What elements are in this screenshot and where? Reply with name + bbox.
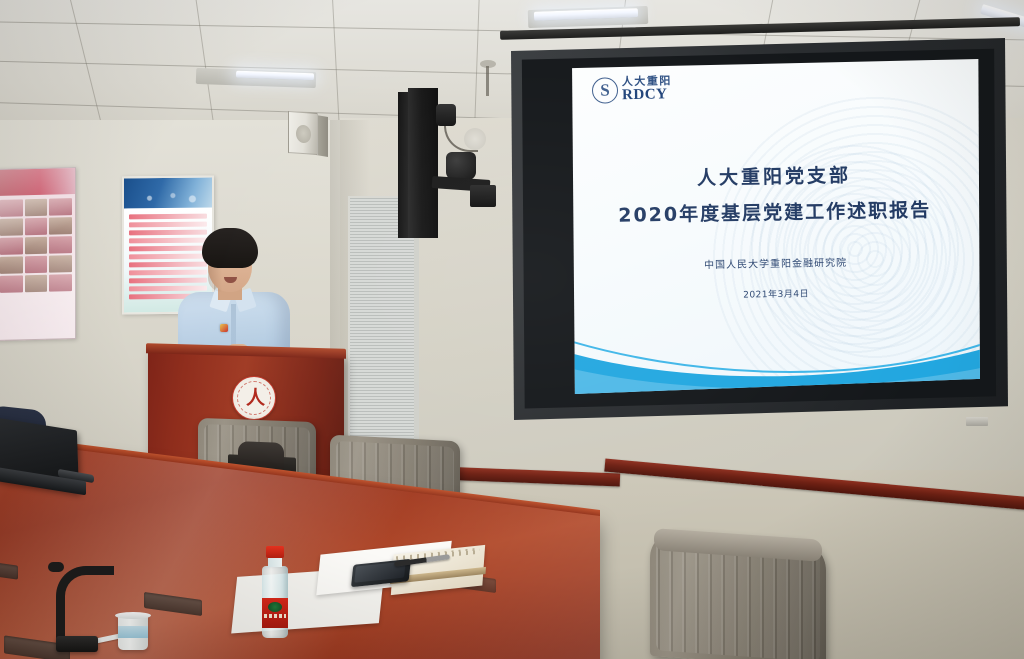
slide-organization: 中国人民大学重阳金融研究院	[570, 251, 980, 273]
microphone-head	[48, 562, 64, 572]
rdcy-logo-mark: S	[592, 77, 618, 103]
poster-photo-board	[0, 167, 76, 341]
projection-screen: S 人大重阳 RDCY 人大重阳党支部 2020年度基层党建工作述职报告 中国人…	[508, 38, 1008, 420]
av-device-upper	[436, 104, 456, 126]
university-emblem: 人	[232, 376, 276, 420]
bottle-neck	[268, 557, 282, 567]
cup-rim	[115, 612, 151, 619]
conference-room-photo: S 人大重阳 RDCY 人大重阳党支部 2020年度基层党建工作述职报告 中国人…	[0, 0, 1024, 659]
cup-label-band	[118, 626, 148, 638]
microphone-base[interactable]	[56, 636, 98, 652]
av-control-box	[470, 185, 496, 207]
rdcy-logo-english: RDCY	[622, 87, 672, 103]
emblem-mark: 人	[246, 389, 262, 408]
party-badge-pin	[220, 324, 228, 332]
poster-list-row	[129, 222, 207, 228]
poster-header-banner	[124, 178, 212, 209]
bottle-label-text	[264, 614, 286, 618]
gooseneck-microphone-arm	[56, 566, 114, 642]
screen-pull-tab	[966, 417, 988, 426]
slide-title-line-1: 人大重阳党支部	[570, 158, 979, 192]
rdcy-logo-text: 人大重阳 RDCY	[622, 75, 673, 103]
presenter	[178, 228, 290, 360]
black-column	[408, 88, 438, 238]
slide-title-line-2: 2020年度基层党建工作述职报告	[570, 194, 980, 228]
bottle-label-graphic	[268, 602, 282, 612]
rdcy-logo: S 人大重阳 RDCY	[592, 75, 673, 104]
presenter-hair	[202, 228, 258, 268]
presentation-slide: S 人大重阳 RDCY 人大重阳党支部 2020年度基层党建工作述职报告 中国人…	[570, 58, 980, 394]
water-bottle	[262, 546, 288, 638]
bottle-cap	[266, 546, 284, 558]
camera-head	[446, 152, 476, 180]
slide-body: 人大重阳党支部 2020年度基层党建工作述职报告 中国人民大学重阳金融研究院 2…	[570, 158, 980, 303]
poster-list-row	[129, 214, 207, 220]
ceiling-drop-rod	[486, 66, 489, 96]
wall-speaker	[288, 111, 318, 155]
poster-glare	[0, 168, 75, 340]
